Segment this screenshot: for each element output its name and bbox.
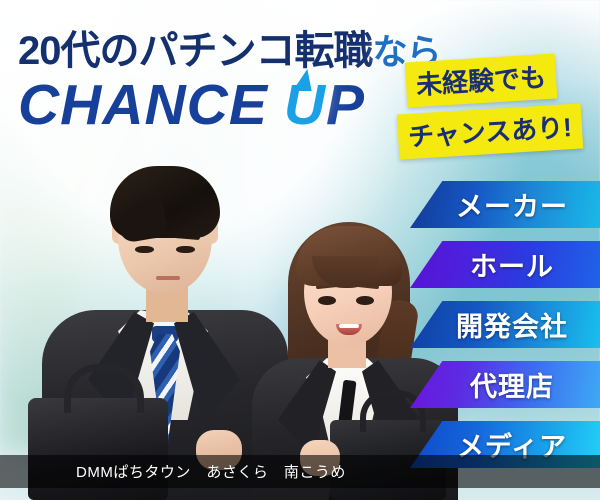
brand-logo: CHANCEUP [18,72,365,138]
category-button-developer[interactable]: 開発会社 [410,301,600,348]
male-eye-left [135,246,154,253]
category-label-maker: メーカー [456,185,568,224]
category-button-agency[interactable]: 代理店 [410,361,600,408]
category-button-maker[interactable]: メーカー [410,181,600,228]
advertisement-banner[interactable]: 20代のパチンコ転職なら CHANCEUP 未経験でも チャンスあり! メーカー… [0,0,600,500]
logo-chance-text: CHANCE [18,73,268,137]
logo-up-p-letter: P [326,73,365,137]
category-label-developer: 開発会社 [456,305,568,344]
headline-main-text: 20代のパチンコ転職 [18,29,373,73]
male-eye-right [176,246,195,253]
logo-up-u-letter: U [284,72,326,138]
female-eye-left [318,296,336,305]
male-mouth [156,276,180,280]
category-label-hall: ホール [470,245,554,284]
category-button-list: メーカー ホール 開発会社 代理店 メディア [410,181,600,481]
highlight-badge: 未経験でも チャンスあり! [398,58,594,154]
category-button-hall[interactable]: ホール [410,241,600,288]
category-label-agency: 代理店 [470,365,554,404]
page-title: 20代のパチンコ転職なら [18,18,441,76]
male-hair [110,166,220,238]
badge-line-2: チャンスあり! [397,103,583,159]
female-eye-right [356,296,374,305]
credit-bar: DMMぱちタウン あさくら 南こうめ [0,455,600,488]
badge-line-1: 未経験でも [405,53,557,107]
credit-text: DMMぱちタウン あさくら 南こうめ [76,461,346,482]
